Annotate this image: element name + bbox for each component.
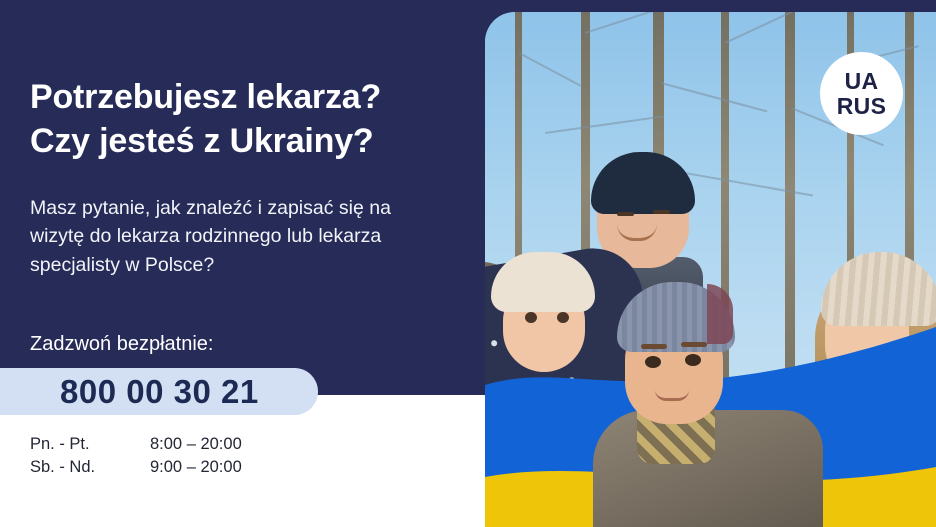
boy-eye xyxy=(645,356,661,368)
headline-line-1: Potrzebujesz lekarza? xyxy=(30,78,381,116)
mother-scarf xyxy=(831,372,936,452)
badge-line-ua: UA xyxy=(845,69,879,94)
call-label: Zadzwoń bezpłatnie: xyxy=(30,332,213,356)
badge-line-rus: RUS xyxy=(837,94,886,119)
hours-days: Sb. - Nd. xyxy=(30,456,150,479)
baby-eye xyxy=(557,312,569,323)
father-eye xyxy=(617,212,634,216)
baby-eye xyxy=(525,312,537,323)
poster-root: UA RUS Potrzebujesz lekarza? Czy jesteś … xyxy=(0,0,936,527)
tree-trunk xyxy=(785,12,795,422)
boy-eyebrow xyxy=(641,344,667,349)
father-eye xyxy=(653,210,670,214)
opening-hours: Pn. - Pt. 8:00 – 20:00 Sb. - Nd. 9:00 – … xyxy=(30,433,242,480)
hours-row: Sb. - Nd. 9:00 – 20:00 xyxy=(30,456,242,479)
hours-time: 8:00 – 20:00 xyxy=(150,433,242,456)
subtext: Masz pytanie, jak znaleźć i zapisać się … xyxy=(30,194,450,279)
boy-eyebrow xyxy=(681,342,707,347)
phone-number[interactable]: 800 00 30 21 xyxy=(60,371,259,413)
language-badge-ua-rus[interactable]: UA RUS xyxy=(820,52,903,135)
headline-line-2: Czy jesteś z Ukrainy? xyxy=(30,120,460,164)
hours-days: Pn. - Pt. xyxy=(30,433,150,456)
hours-time: 9:00 – 20:00 xyxy=(150,456,242,479)
headline: Potrzebujesz lekarza? Czy jesteś z Ukrai… xyxy=(30,76,460,163)
hours-row: Pn. - Pt. 8:00 – 20:00 xyxy=(30,433,242,456)
boy-eye xyxy=(685,354,701,366)
